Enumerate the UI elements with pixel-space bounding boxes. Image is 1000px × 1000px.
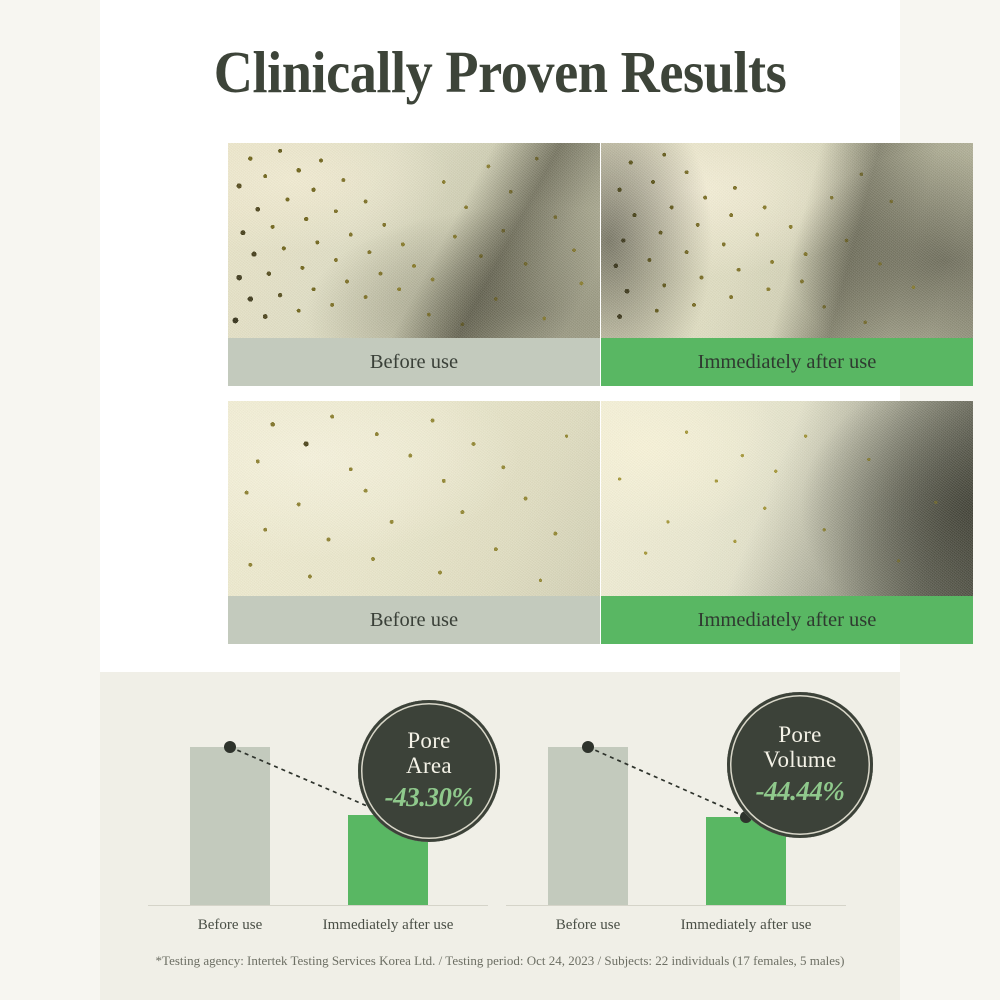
badge-title-line2: Volume xyxy=(764,747,837,772)
comparison-cell-after: Immediately after use xyxy=(601,401,973,644)
caption-immediately-after-use: Immediately after use xyxy=(601,596,973,644)
x-tick-label-before: Before use xyxy=(140,917,320,934)
caption-immediately-after-use: Immediately after use xyxy=(601,338,973,386)
photo-grain xyxy=(228,143,600,338)
x-tick-label-before: Before use xyxy=(498,917,678,934)
photo-grain xyxy=(228,401,600,596)
chart-axis-line xyxy=(148,905,488,906)
clinical-results-infographic: Clinically Proven Results Before use xyxy=(0,0,1000,1000)
comparison-row: Before use Immediately after use xyxy=(228,401,973,644)
badge-value: -44.44% xyxy=(756,776,845,807)
footnote-testing-details: *Testing agency: Intertek Testing Servic… xyxy=(100,953,900,969)
comparison-cell-before: Before use xyxy=(228,143,600,386)
badge-value: -43.30% xyxy=(385,782,474,813)
microscope-photo-after-row2 xyxy=(601,401,973,596)
badge-pore-volume: Pore Volume -44.44% xyxy=(727,692,873,838)
chart-axis-line xyxy=(506,905,846,906)
badge-title-line2: Area xyxy=(406,753,452,778)
before-after-comparison-grid: Before use Immediately after use xyxy=(228,143,973,659)
microscope-photo-after-row1 xyxy=(601,143,973,338)
comparison-cell-after: Immediately after use xyxy=(601,143,973,386)
x-tick-label-after: Immediately after use xyxy=(298,917,478,934)
comparison-cell-before: Before use xyxy=(228,401,600,644)
data-point-before xyxy=(582,741,594,753)
photo-grain xyxy=(601,401,973,596)
bar-before-use xyxy=(190,747,270,905)
microscope-photo-before-row2 xyxy=(228,401,600,596)
photo-grain xyxy=(601,143,973,338)
page-title: Clinically Proven Results xyxy=(132,38,868,107)
badge-title-line1: Pore xyxy=(407,728,450,753)
badge-title: Pore Area xyxy=(406,729,452,779)
top-white-panel: Clinically Proven Results Before use xyxy=(100,0,900,672)
badge-title-line1: Pore xyxy=(778,722,821,747)
badge-pore-area: Pore Area -43.30% xyxy=(358,700,500,842)
data-point-before xyxy=(224,741,236,753)
comparison-row: Before use Immediately after use xyxy=(228,143,973,386)
badge-title: Pore Volume xyxy=(764,723,837,773)
bar-before-use xyxy=(548,747,628,905)
caption-before-use: Before use xyxy=(228,596,600,644)
x-tick-label-after: Immediately after use xyxy=(656,917,836,934)
microscope-photo-before-row1 xyxy=(228,143,600,338)
caption-before-use: Before use xyxy=(228,338,600,386)
